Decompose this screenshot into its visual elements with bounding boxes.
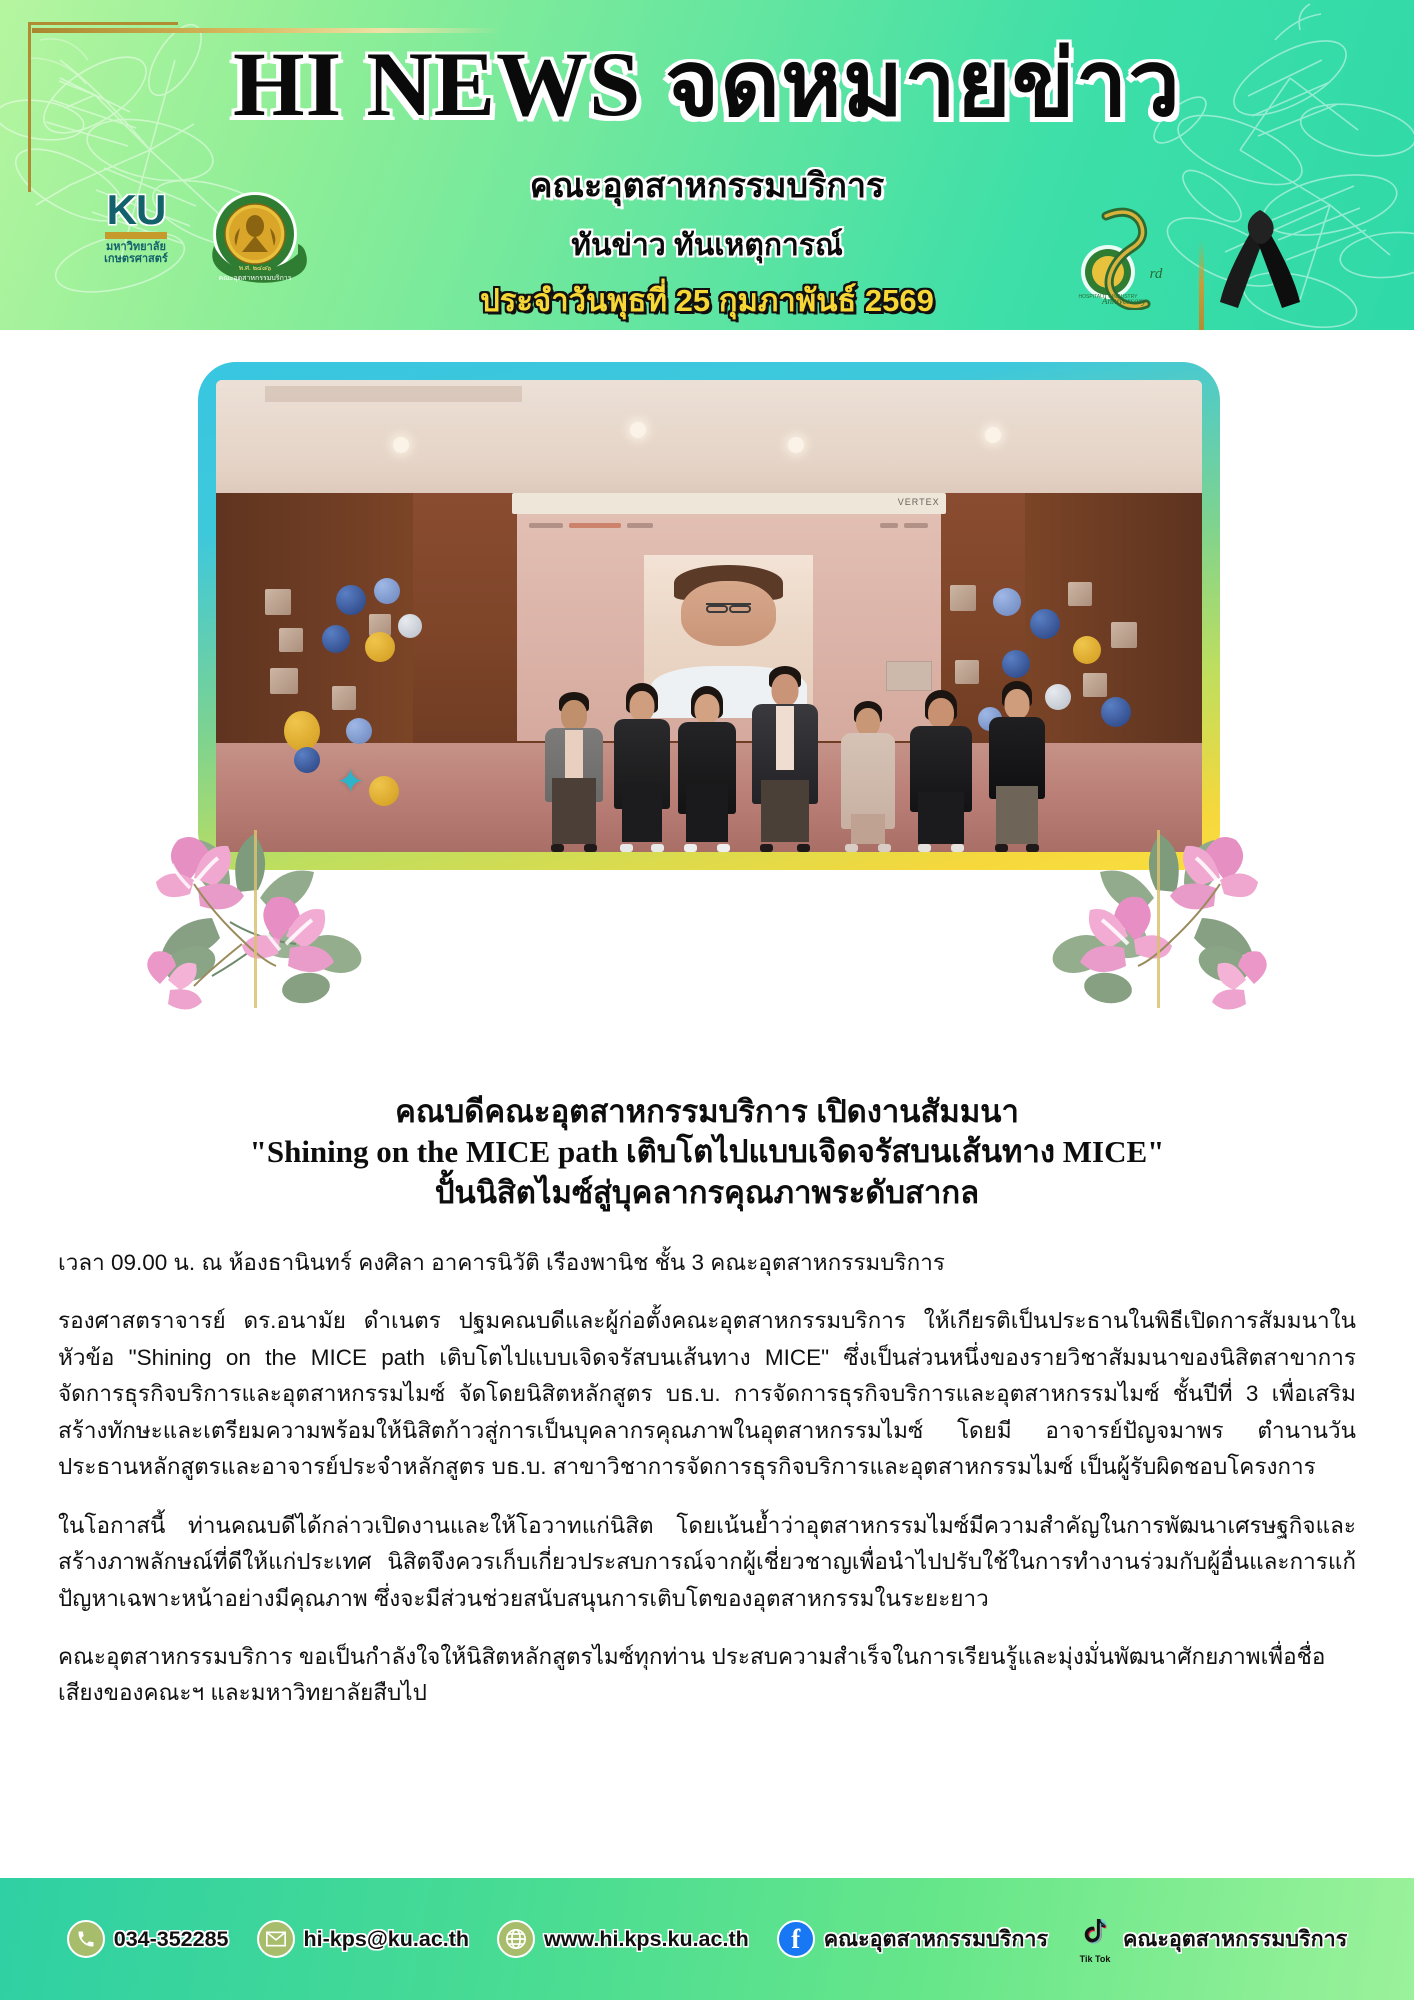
person-head: [856, 708, 880, 736]
body-paragraph: คณะอุตสาหกรรมบริการ ขอเป็นกำลังใจให้นิสิ…: [58, 1639, 1356, 1712]
person-legs: [552, 778, 596, 844]
email-icon: [257, 1920, 295, 1958]
body-paragraph: เวลา 09.00 น. ณ ห้องธานินทร์ คงศิลา อาคา…: [58, 1245, 1356, 1281]
person-shirt: [776, 706, 794, 770]
ku-logo-thai: มหาวิทยาลัยเกษตรศาสตร์: [88, 241, 184, 265]
person-shoe: [797, 844, 810, 852]
screen-ui-spacer: [659, 523, 809, 528]
person: [985, 681, 1049, 852]
footer-contact-tiktok[interactable]: Tik Tok คณะอุตสาหกรรมบริการ: [1076, 1915, 1347, 1964]
person-head: [772, 674, 799, 706]
footer-contact-phone[interactable]: 034-352285: [67, 1920, 229, 1958]
person-shoe: [584, 844, 597, 852]
person-shoe: [551, 844, 564, 852]
person-head: [928, 698, 954, 728]
person-legs: [996, 786, 1038, 844]
news-photo-frame: VERTEX: [198, 362, 1220, 870]
person: [610, 683, 674, 852]
person-shoe: [684, 844, 697, 852]
person-shoe: [760, 844, 773, 852]
page-title: HI NEWS จดหมายข่าว: [0, 36, 1414, 133]
footer-contact-facebook[interactable]: f คณะอุตสาหกรรมบริการ: [777, 1920, 1048, 1958]
tiktok-icon: [1076, 1915, 1114, 1953]
svg-text:rd: rd: [1150, 266, 1163, 282]
footer-contact-website[interactable]: www.hi.kps.ku.ac.th: [497, 1920, 749, 1958]
person-shoe: [995, 844, 1008, 852]
contact-footer: 034-352285 hi-kps@ku.ac.th www.hi.kps: [0, 1878, 1414, 2000]
person-shoe: [918, 844, 931, 852]
person: [906, 690, 976, 852]
person-head: [695, 694, 720, 724]
ceiling-panel: [265, 386, 521, 402]
balloon: [374, 578, 400, 604]
person-legs: [851, 814, 885, 844]
ceiling-light: [393, 437, 409, 453]
person-legs: [686, 784, 728, 842]
person-shoe: [951, 844, 964, 852]
svg-text:พ.ศ. ๒๔๘๖: พ.ศ. ๒๔๘๖: [239, 265, 271, 272]
screen-ui-chip: [529, 523, 563, 528]
kasetsart-seal-logo: คณะอุตสาหกรรมบริการ พ.ศ. ๒๔๘๖: [200, 188, 310, 293]
screen-brand-label: VERTEX: [898, 497, 940, 507]
person-legs: [918, 792, 964, 844]
footer-phone-text: 034-352285: [114, 1927, 229, 1952]
tiktok-label: Tik Tok: [1080, 1954, 1111, 1964]
headline-line-1: คณบดีคณะอุตสาหกรรมบริการ เปิดงานสัมมนา: [60, 1092, 1354, 1132]
ku-logo: KU มหาวิทยาลัยเกษตรศาสตร์: [88, 190, 184, 286]
person: [541, 692, 607, 852]
newsletter-page: HI NEWS จดหมายข่าว คณะอุตสาหกรรมบริการ ท…: [0, 0, 1414, 2000]
screen-ui-chip: [880, 523, 898, 528]
svg-text:HOSPITALITY INDUSTRY: HOSPITALITY INDUSTRY: [1079, 294, 1139, 300]
gift-box: [950, 585, 976, 611]
person-head: [561, 700, 587, 731]
gift-box: [1068, 582, 1092, 606]
ceiling-light: [788, 437, 804, 453]
person: [674, 686, 740, 852]
header-banner: HI NEWS จดหมายข่าว คณะอุตสาหกรรมบริการ ท…: [0, 0, 1414, 330]
screen-ui-chip: [904, 523, 928, 528]
headline-line-3: ปั้นนิสิตไมซ์สู่บุคลากรคุณภาพระดับสากล: [60, 1173, 1354, 1213]
footer-email-text: hi-kps@ku.ac.th: [304, 1927, 470, 1952]
person-shoe: [1026, 844, 1039, 852]
photo-ceiling: [216, 380, 1202, 503]
footer-tiktok-text: คณะอุตสาหกรรมบริการ: [1123, 1922, 1347, 1956]
balloon: [336, 585, 366, 615]
person-shoe: [651, 844, 664, 852]
group-photo-people: [216, 630, 1202, 852]
anniversary-3rd-logo: rd Anniversary HOSPITALITY INDUSTRY: [1064, 200, 1184, 310]
person: [837, 701, 899, 852]
screen-ui-chip: [569, 523, 621, 528]
gift-box: [265, 589, 291, 615]
ku-logo-letters: KU: [88, 190, 184, 230]
tiktok-icon-wrap: Tik Tok: [1076, 1915, 1114, 1964]
black-mourning-ribbon-icon: [1214, 198, 1306, 310]
phone-icon: [67, 1920, 105, 1958]
projector-screen-housing: VERTEX: [512, 493, 946, 514]
news-photo: VERTEX: [216, 380, 1202, 852]
person-legs: [622, 782, 662, 842]
headline-line-2: "Shining on the MICE path เติบโตไปแบบเจิ…: [60, 1132, 1354, 1172]
person-legs: [761, 780, 809, 842]
person-shoe: [878, 844, 891, 852]
person-head: [1005, 689, 1030, 719]
svg-text:คณะอุตสาหกรรมบริการ: คณะอุตสาหกรรมบริการ: [218, 274, 291, 282]
screen-ui-chip: [627, 523, 653, 528]
facebook-icon: f: [777, 1920, 815, 1958]
article-body: เวลา 09.00 น. ณ ห้องธานินทร์ คงศิลา อาคา…: [58, 1245, 1356, 1734]
speaker-glasses: [706, 603, 752, 609]
body-paragraph: รองศาสตราจารย์ ดร.อนามัย ดำเนตร ปฐมคณบดี…: [58, 1303, 1356, 1485]
screen-ui-bar: [529, 519, 928, 533]
balloon: [993, 588, 1021, 616]
person-shoe: [717, 844, 730, 852]
person-head: [630, 691, 655, 721]
globe-icon: [497, 1920, 535, 1958]
footer-facebook-text: คณะอุตสาหกรรมบริการ: [824, 1922, 1048, 1956]
article-headline: คณบดีคณะอุตสาหกรรมบริการ เปิดงานสัมมนา "…: [60, 1092, 1354, 1213]
body-paragraph: ในโอกาสนี้ ท่านคณบดีได้กล่าวเปิดงานและให…: [58, 1508, 1356, 1617]
person: [748, 666, 822, 852]
footer-contact-email[interactable]: hi-kps@ku.ac.th: [257, 1920, 470, 1958]
footer-website-text: www.hi.kps.ku.ac.th: [544, 1927, 749, 1952]
person-shoe: [845, 844, 858, 852]
person-shoe: [620, 844, 633, 852]
